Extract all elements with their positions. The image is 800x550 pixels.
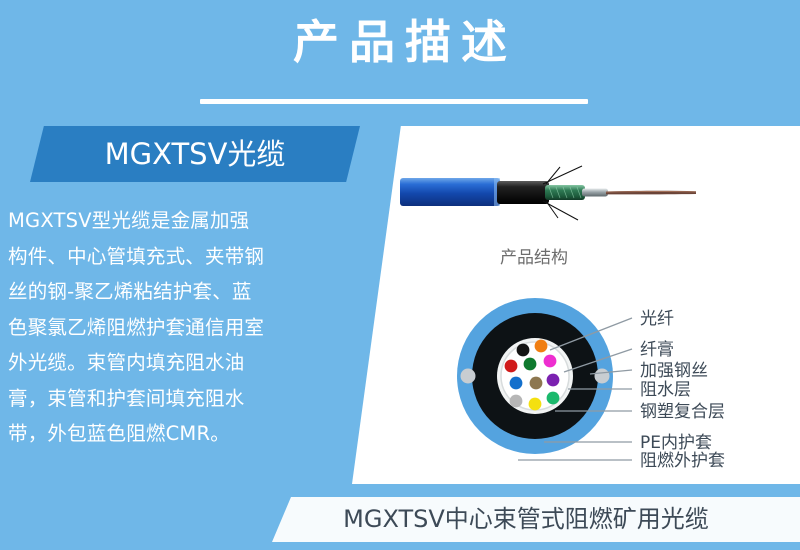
fiber-magenta-icon xyxy=(544,355,557,368)
header-divider xyxy=(200,99,588,104)
product-full-name-banner: MGXTSV中心束管式阻燃矿用光缆 xyxy=(272,497,800,542)
fiber-green-icon xyxy=(524,358,537,371)
label-optical-fiber: 光纤 xyxy=(640,309,674,329)
product-description-banner: 产品描述 MGXTSV光缆 MGXTSV型光缆是金属加强构件、中心管填充式、夹带… xyxy=(0,0,800,550)
cable-cross-section-diagram: 光纤 纤膏 加强钢丝 阻水层 钢塑复合层 PE内护套 阻燃外护套 xyxy=(440,288,800,488)
product-name-label: MGXTSV光缆 xyxy=(30,126,360,182)
strength-steel-wire-right xyxy=(595,369,610,384)
cross-section-labels: 光纤 纤膏 加强钢丝 阻水层 钢塑复合层 PE内护套 阻燃外护套 xyxy=(640,309,725,471)
cable-loose-tube xyxy=(582,189,608,197)
strength-steel-wire-left xyxy=(461,369,476,384)
cable-outer-jacket xyxy=(400,178,500,206)
fiber-teal-icon xyxy=(547,392,560,405)
label-steel-plastic-layer: 钢塑复合层 xyxy=(640,402,725,422)
product-full-name-label: MGXTSV中心束管式阻燃矿用光缆 xyxy=(272,497,780,542)
product-structure-caption: 产品结构 xyxy=(500,243,700,268)
label-strength-steel-wire: 加强钢丝 xyxy=(640,361,708,381)
product-name-banner: MGXTSV光缆 xyxy=(30,126,360,182)
page-title: 产品描述 xyxy=(0,14,800,72)
label-water-blocking-layer: 阻水层 xyxy=(640,380,691,400)
cable-cutaway-photo xyxy=(400,160,700,230)
fiber-gray-icon xyxy=(510,395,523,408)
fiber-orange-icon xyxy=(535,340,548,353)
product-description-text: MGXTSV型光缆是金属加强构件、中心管填充式、夹带钢丝的钢-聚乙烯粘结护套、蓝… xyxy=(8,203,268,452)
fiber-yellow-icon xyxy=(529,398,542,411)
fiber-red-icon xyxy=(505,360,518,373)
fiber-purple-icon xyxy=(547,374,560,387)
fiber-brown-icon xyxy=(530,377,543,390)
fiber-black-icon xyxy=(517,344,530,357)
cable-inner-jacket xyxy=(497,181,549,204)
label-fiber-paste: 纤膏 xyxy=(640,339,674,360)
label-pe-inner-sheath: PE内护套 xyxy=(640,433,712,453)
fiber-blue-icon xyxy=(510,377,523,390)
label-flame-retardant-sheath: 阻燃外护套 xyxy=(640,451,725,471)
